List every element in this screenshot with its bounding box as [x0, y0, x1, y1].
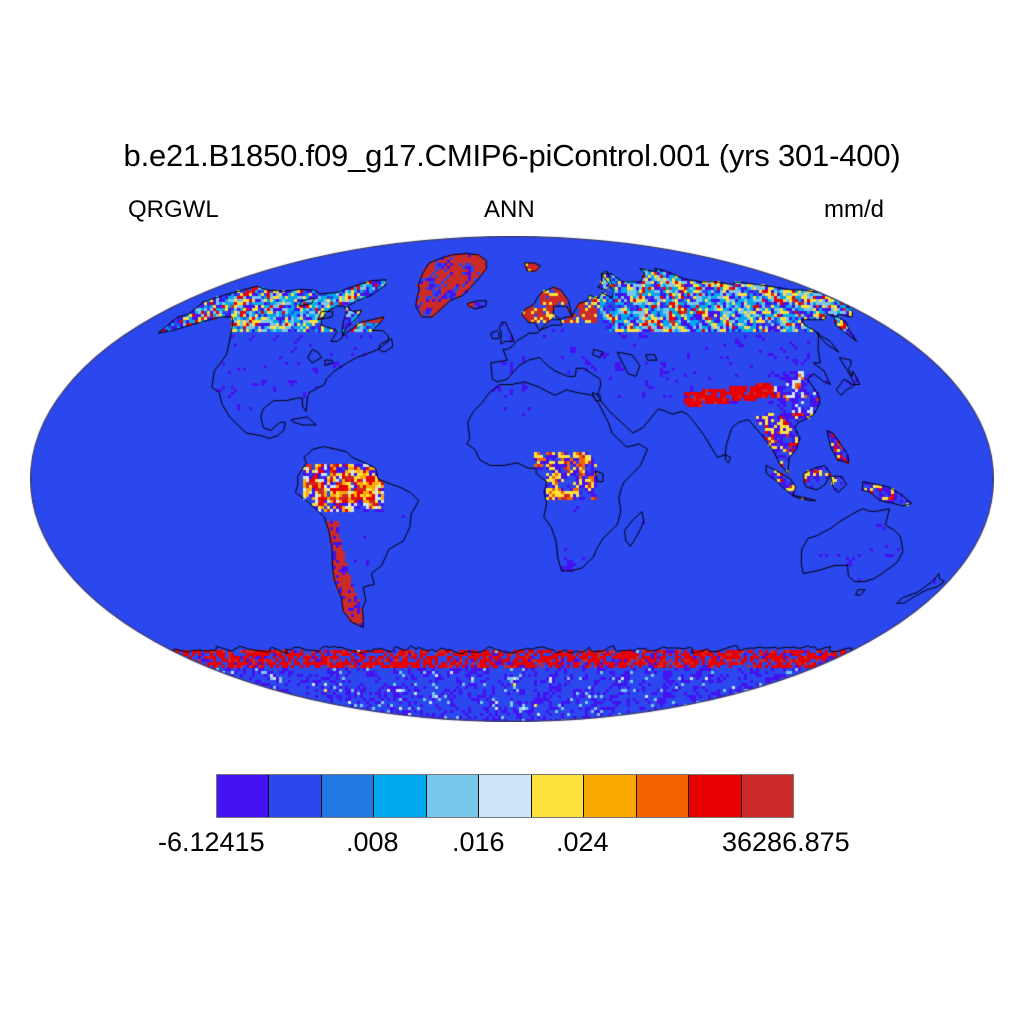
subtitle-row: QRGWL ANN mm/d [0, 196, 1024, 224]
colorbar-segment-9 [689, 775, 741, 817]
variable-label: QRGWL [128, 196, 219, 224]
colorbar-segment-1 [269, 775, 321, 817]
colorbar-segment-8 [637, 775, 689, 817]
colorbar-segment-5 [479, 775, 531, 817]
colorbar-segment-4 [427, 775, 479, 817]
map-canvas [30, 236, 994, 722]
colorbar-segment-6 [532, 775, 584, 817]
colorbar-segment-3 [374, 775, 426, 817]
world-map [30, 236, 994, 722]
page-title: b.e21.B1850.f09_g17.CMIP6-piControl.001 … [0, 138, 1024, 174]
units-label: mm/d [824, 196, 884, 224]
colorbar-tick-max: 36286.875 [722, 826, 850, 858]
colorbar [216, 774, 794, 818]
colorbar-tick-min: -6.12415 [158, 826, 265, 858]
colorbar-segment-10 [742, 775, 793, 817]
colorbar-segment-0 [217, 775, 269, 817]
season-label: ANN [484, 196, 535, 224]
colorbar-tick-3: .024 [556, 826, 609, 858]
colorbar-segment-2 [322, 775, 374, 817]
figure-root: b.e21.B1850.f09_g17.CMIP6-piControl.001 … [0, 0, 1024, 1024]
colorbar-segment-7 [584, 775, 636, 817]
colorbar-tick-1: .008 [346, 826, 399, 858]
colorbar-labels: -6.12415 .008 .016 .024 36286.875 [0, 826, 1024, 860]
colorbar-tick-2: .016 [452, 826, 505, 858]
